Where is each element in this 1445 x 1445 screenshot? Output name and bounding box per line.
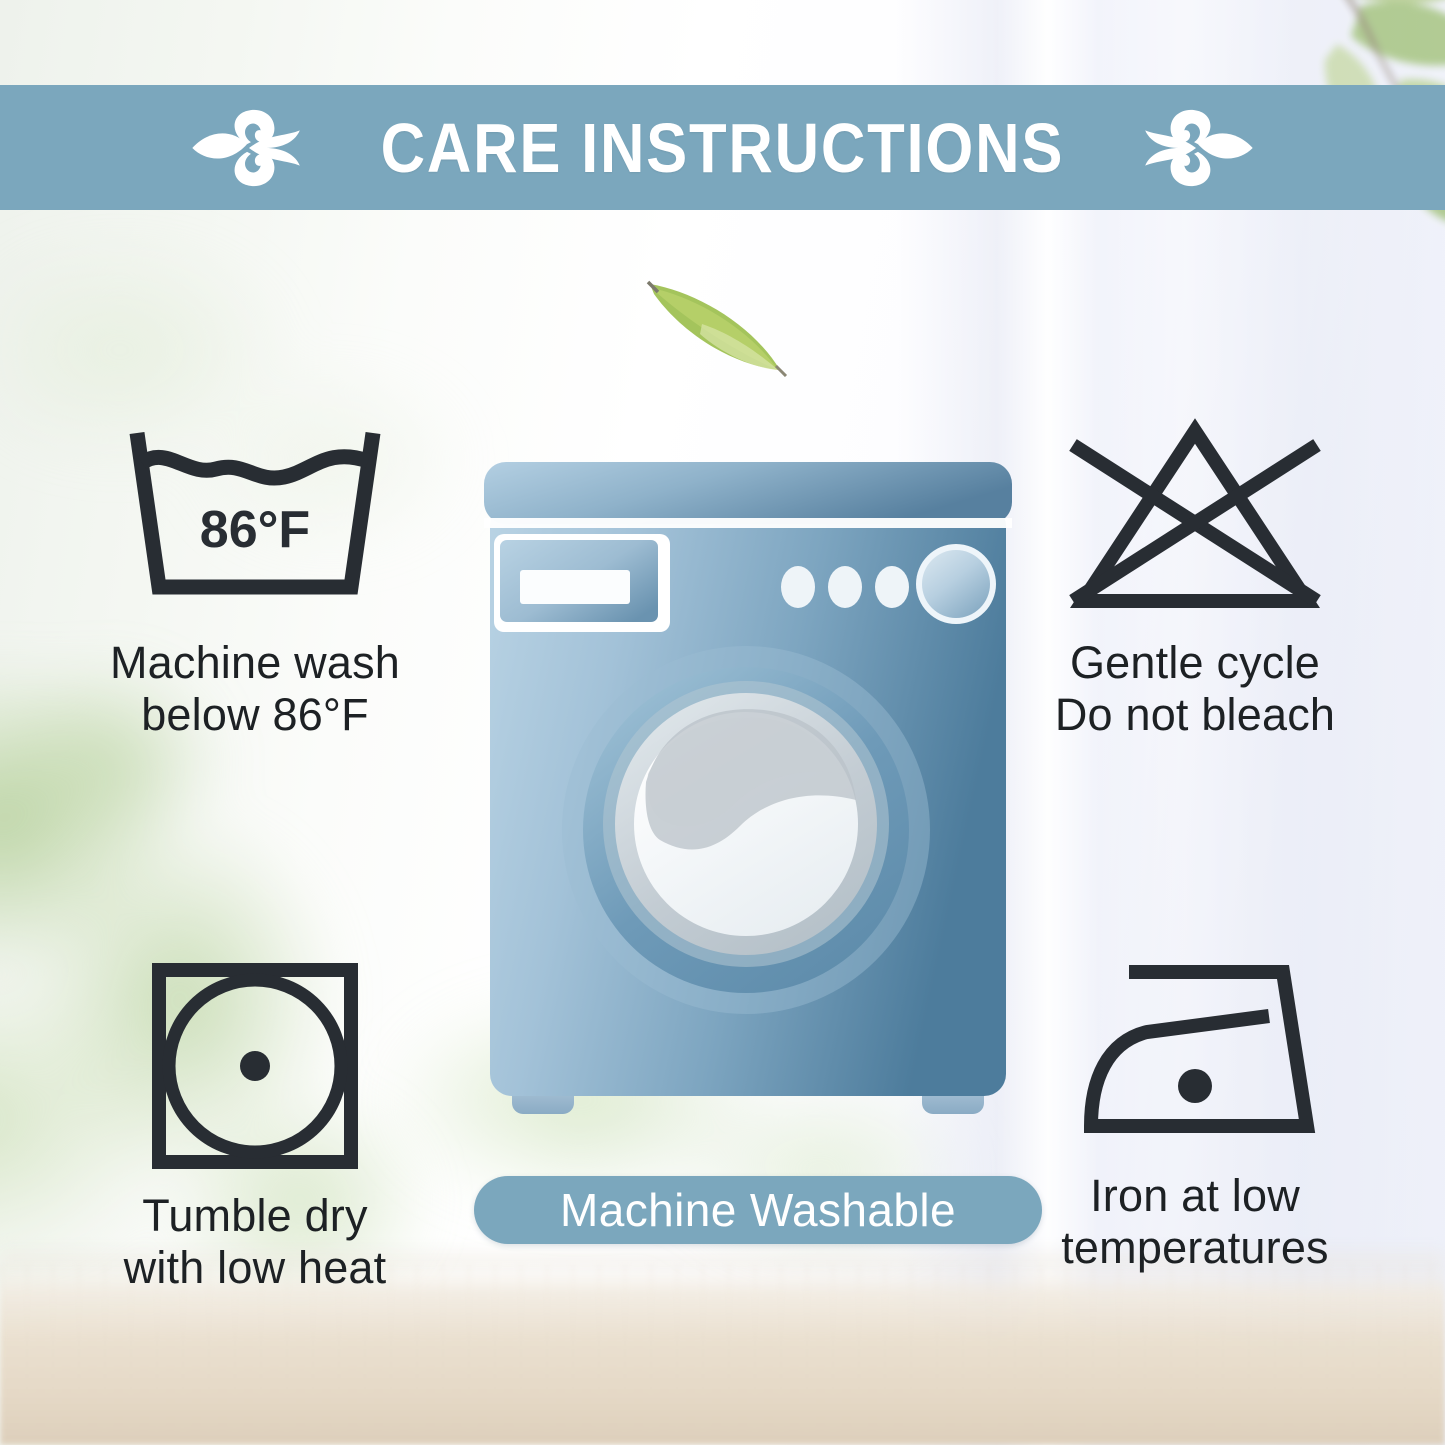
care-symbol-tumble-dry: Tumble dry with low heat — [20, 960, 490, 1294]
page-title: CARE INSTRUCTIONS — [381, 113, 1065, 183]
care-symbol-caption: Tumble dry with low heat — [20, 1190, 490, 1294]
crossed-triangle-icon — [1055, 415, 1335, 615]
badge-label: Machine Washable — [560, 1187, 956, 1233]
detergent-drawer — [494, 534, 670, 632]
wash-temperature-value: 86°F — [200, 501, 310, 559]
tumble-dry-low-icon — [149, 960, 361, 1172]
green-leaf-icon — [640, 272, 790, 377]
care-symbol-caption: Machine wash below 86°F — [20, 637, 490, 741]
care-symbol-do-not-bleach: Gentle cycle Do not bleach — [960, 415, 1430, 741]
machine-top-panel — [484, 462, 1012, 524]
care-symbol-caption: Gentle cycle Do not bleach — [960, 637, 1430, 741]
iron-low-icon — [1069, 950, 1321, 1140]
control-buttons — [781, 566, 909, 608]
machine-door — [562, 646, 930, 1014]
wash-basin-icon: 86°F — [115, 415, 395, 623]
fleur-de-lis-left-icon — [190, 105, 308, 191]
care-symbol-machine-wash: 86°F Machine wash below 86°F — [20, 415, 490, 741]
washing-machine-illustration — [478, 452, 1018, 1130]
fleur-de-lis-right-icon — [1137, 105, 1255, 191]
header-banner: CARE INSTRUCTIONS — [0, 85, 1445, 210]
machine-washable-badge: Machine Washable — [474, 1176, 1042, 1244]
